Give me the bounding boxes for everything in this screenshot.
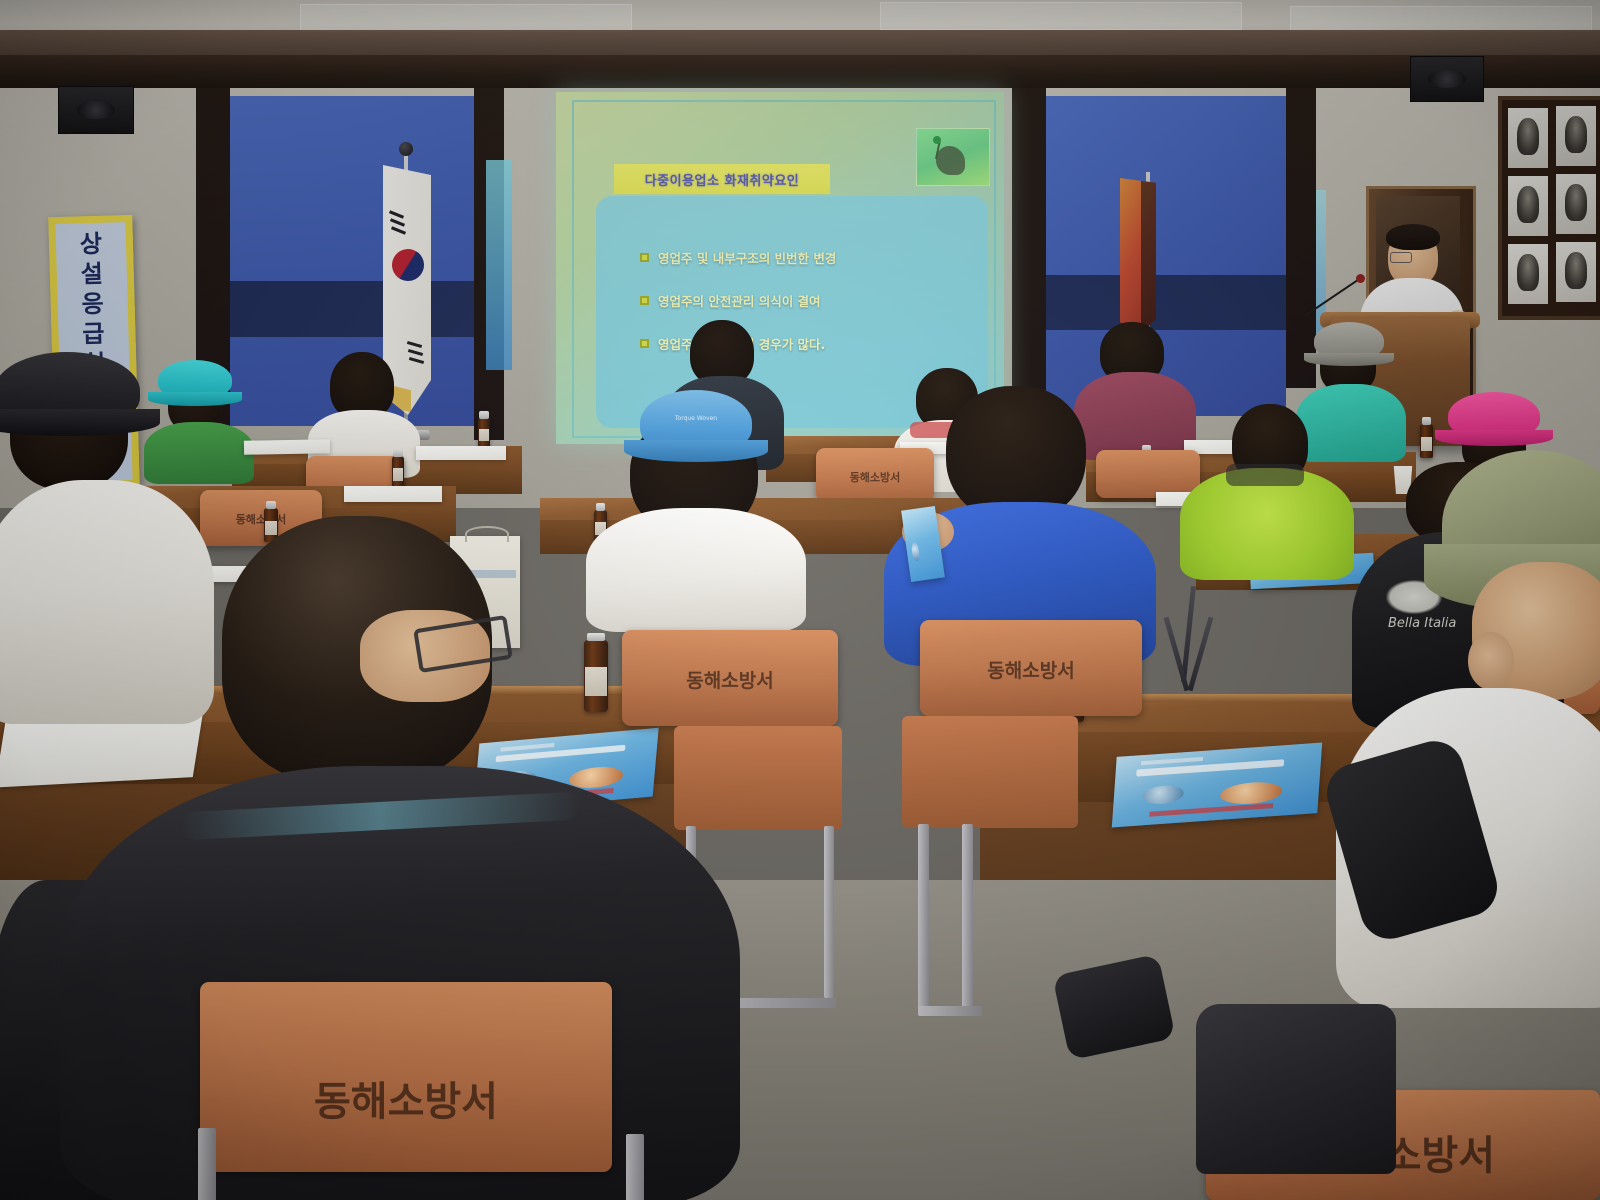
chair-leg xyxy=(918,1006,982,1016)
banner-char: 설 xyxy=(80,259,103,290)
slide-bullet-text: 영업주 및 내부구조의 빈번한 변경 xyxy=(658,248,836,267)
taeguk-symbol xyxy=(386,243,429,286)
slide-bullet-text: 영업주의 안전관리 의식이 결여 xyxy=(658,291,821,310)
framed-portrait-grid xyxy=(1498,96,1600,320)
chair-leg xyxy=(918,824,929,1014)
drink-bottle xyxy=(478,418,490,448)
chair-leg xyxy=(824,826,834,998)
wall-speaker-right xyxy=(1410,56,1484,102)
slide-thumbnail-image xyxy=(916,128,990,186)
bullet-marker-icon xyxy=(640,296,649,305)
chair-label: 동해소방서 xyxy=(920,656,1142,683)
attendee-white-shirt-left xyxy=(306,352,422,472)
pink-cap xyxy=(1448,392,1540,440)
drink-bottle xyxy=(392,456,404,488)
blue-baseball-cap: Torque Woven xyxy=(640,390,752,456)
microphone xyxy=(1306,274,1366,322)
cap-logo: Torque Woven xyxy=(640,415,752,422)
wall-light-strip xyxy=(486,160,512,370)
chair-leg xyxy=(962,824,973,1010)
organization-flag xyxy=(1120,178,1156,338)
chair-back[interactable]: 동해소방서 xyxy=(200,982,612,1172)
slide-title-text: 다중이용업소 화재취약요인 xyxy=(645,170,800,189)
banner-char: 급 xyxy=(82,319,105,350)
presenter-hair xyxy=(1386,224,1440,250)
glasses-icon xyxy=(1390,252,1412,263)
attendee-olive-bucket-hat xyxy=(1432,450,1600,920)
slide-bullet: 영업주의 안전관리 의식이 결여 xyxy=(640,291,988,310)
backpack xyxy=(1196,1004,1396,1174)
handout-paper xyxy=(244,439,330,454)
gray-cap xyxy=(1314,322,1384,360)
chair-back[interactable]: 동해소방서 xyxy=(920,620,1142,716)
chair-label: 동해소방서 xyxy=(200,1069,612,1127)
chair-leg xyxy=(626,1134,644,1200)
bullet-marker-icon xyxy=(640,253,649,262)
handout-paper xyxy=(416,446,506,460)
chair-seat[interactable] xyxy=(902,716,1078,828)
bullet-marker-icon xyxy=(640,339,649,348)
equipment-tripod xyxy=(1168,586,1212,696)
banner-char: 상 xyxy=(80,229,103,260)
flag-finial xyxy=(399,142,413,156)
black-cap xyxy=(0,352,140,430)
slide-bullet: 영업주 및 내부구조의 빈번한 변경 xyxy=(640,248,988,267)
lecture-room-photo: 다중이용업소 화재취약요인 영업주 및 내부구조의 빈번한 변경 영업주의 안전… xyxy=(0,0,1600,1200)
chair-leg xyxy=(198,1128,216,1200)
education-booklet[interactable] xyxy=(1112,743,1322,828)
attendee-ear xyxy=(1468,632,1514,690)
slide-title-banner: 다중이용업소 화재취약요인 xyxy=(614,164,830,194)
banner-char: 응 xyxy=(81,289,104,320)
attendee-lime-crochet-woman xyxy=(1180,404,1354,574)
wall-speaker-left xyxy=(58,86,134,134)
handout-paper xyxy=(344,486,442,502)
